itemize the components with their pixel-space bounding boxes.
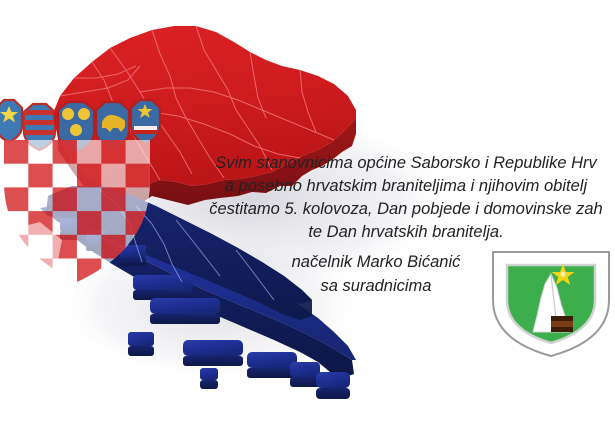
left-vignette [0, 222, 62, 340]
map-shadow [35, 105, 465, 383]
checkerboard-shield [4, 140, 150, 282]
saborsko-coat-of-arms [487, 248, 615, 358]
poster-canvas: Svim stanovnicima općine Saborsko i Repu… [0, 0, 615, 425]
crown-shield-dalmatia [58, 102, 94, 153]
greeting-line-4: te Dan hrvatskih branitelja. [176, 221, 615, 244]
greeting-line-1: Svim stanovnicima općine Saborsko i Repu… [176, 152, 615, 175]
crown-five-shields [0, 100, 160, 153]
greeting-line-2: a posebno hrvatskim braniteljima i njiho… [176, 175, 615, 198]
crown-shield-dubrovnik [24, 104, 55, 150]
crown-shield-slavonia [131, 100, 160, 144]
croatian-coat-of-arms [0, 100, 160, 282]
crown-shield-oldest-croatian [0, 100, 22, 142]
brown-structure-charge [551, 316, 573, 332]
greeting-text: Svim stanovnicima općine Saborsko i Repu… [176, 152, 615, 244]
crown-shield-istria [96, 102, 129, 150]
dalmatian-islands [60, 218, 350, 399]
greeting-line-3: čestitamo 5. kolovoza, Dan pobjede i dom… [176, 198, 615, 221]
